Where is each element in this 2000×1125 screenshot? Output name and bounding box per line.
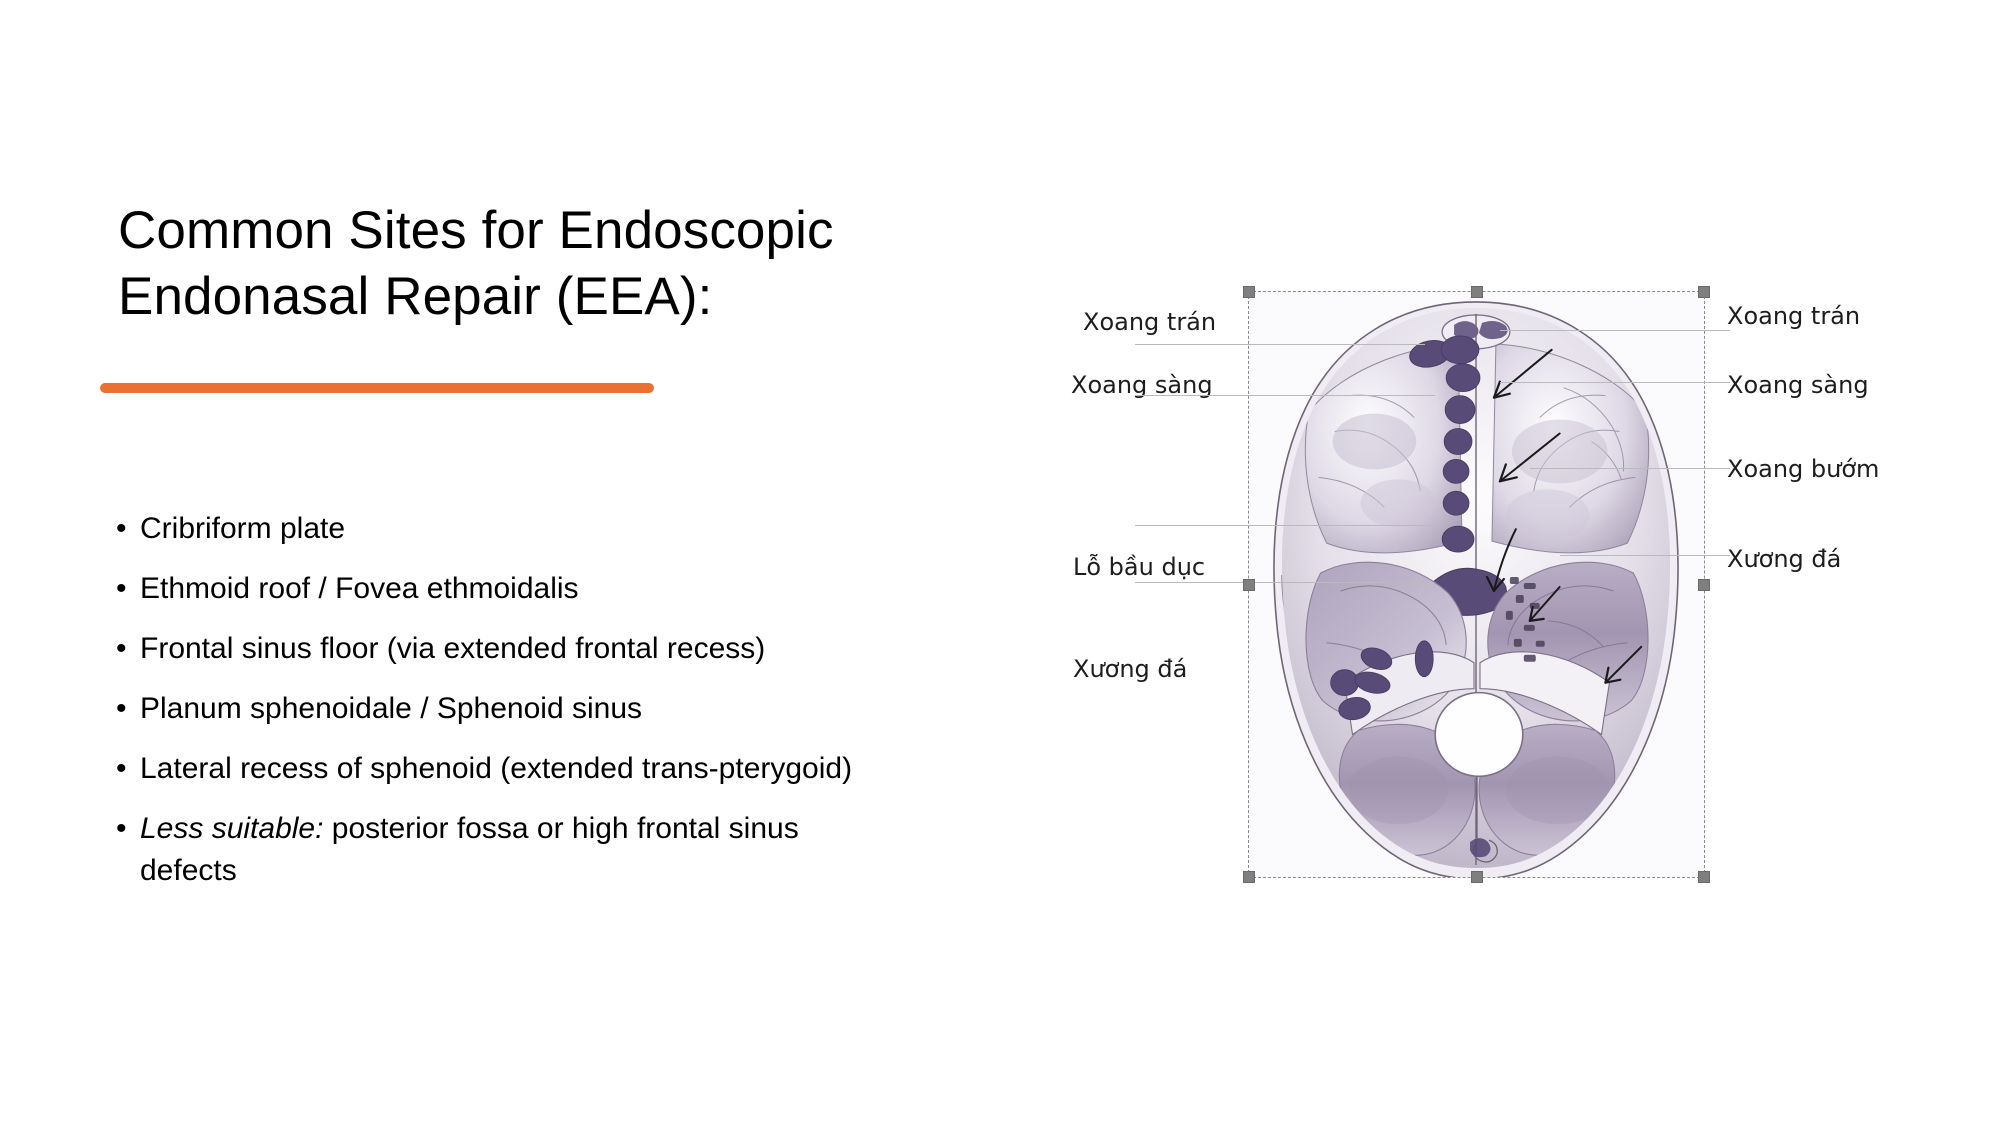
selection-handle-bottom-right[interactable]: [1698, 871, 1710, 883]
selection-handle-top-center[interactable]: [1471, 286, 1483, 298]
bullet-list[interactable]: • Cribriform plate • Ethmoid roof / Fove…: [112, 508, 872, 910]
page-title[interactable]: Common Sites for Endoscopic Endonasal Re…: [118, 198, 898, 330]
list-item-text: Ethmoid roof / Fovea ethmoidalis: [140, 568, 872, 610]
anat-label-right-xoang-sang: Xoang sàng: [1727, 371, 1869, 399]
skull-base-image-object[interactable]: [1248, 291, 1705, 878]
leader-line-left-2: [1135, 395, 1435, 396]
foramen-magnum: [1435, 693, 1523, 777]
list-item: • Frontal sinus floor (via extended fron…: [112, 628, 872, 670]
slide-canvas: Common Sites for Endoscopic Endonasal Re…: [0, 0, 2000, 1125]
list-item: • Planum sphenoidale / Sphenoid sinus: [112, 688, 872, 730]
bullet-marker-icon: •: [112, 628, 140, 670]
anat-label-right-xoang-buom: Xoang bướm: [1727, 455, 1879, 483]
skull-base-axial-illustration: [1249, 292, 1704, 877]
leader-line-right-3: [1530, 468, 1730, 469]
anat-label-left-xoang-tran: Xoang trán: [1083, 308, 1216, 336]
leader-line-left-3: [1135, 525, 1435, 526]
selection-handle-bottom-left[interactable]: [1243, 871, 1255, 883]
anat-label-right-xuong-da: Xương đá: [1727, 545, 1841, 573]
leader-line-right-1: [1500, 330, 1730, 331]
selection-handle-top-right[interactable]: [1698, 286, 1710, 298]
anat-label-right-xoang-tran: Xoang trán: [1727, 302, 1860, 330]
leader-line-right-2: [1500, 382, 1730, 383]
list-item: • Less suitable: posterior fossa or high…: [112, 808, 872, 892]
list-item: • Cribriform plate: [112, 508, 872, 550]
list-item-text: Less suitable: posterior fossa or high f…: [140, 808, 872, 892]
bullet-marker-icon: •: [112, 688, 140, 730]
bullet-marker-icon: •: [112, 508, 140, 550]
leader-line-left-4: [1135, 582, 1425, 583]
accent-underline-bar: [100, 383, 654, 393]
selection-handle-middle-left[interactable]: [1243, 579, 1255, 591]
list-item-emphasis: Less suitable:: [140, 812, 323, 845]
selection-handle-top-left[interactable]: [1243, 286, 1255, 298]
leader-line-right-4: [1560, 555, 1730, 556]
leader-line-left-1: [1135, 344, 1425, 345]
anat-label-left-lo-bau-duc: Lỗ bầu dục: [1073, 553, 1205, 581]
bullet-marker-icon: •: [112, 808, 140, 850]
list-item: • Ethmoid roof / Fovea ethmoidalis: [112, 568, 872, 610]
selection-handle-bottom-center[interactable]: [1471, 871, 1483, 883]
title-line-1: Common Sites for Endoscopic: [118, 198, 898, 264]
list-item: • Lateral recess of sphenoid (extended t…: [112, 748, 872, 790]
anat-label-left-xuong-da: Xương đá: [1073, 655, 1187, 683]
bullet-marker-icon: •: [112, 748, 140, 790]
list-item-text: Cribriform plate: [140, 508, 872, 550]
title-line-2: Endonasal Repair (EEA):: [118, 264, 898, 330]
list-item-text: Frontal sinus floor (via extended fronta…: [140, 628, 872, 670]
bullet-marker-icon: •: [112, 568, 140, 610]
list-item-text: Planum sphenoidale / Sphenoid sinus: [140, 688, 872, 730]
selection-handle-middle-right[interactable]: [1698, 579, 1710, 591]
list-item-text: Lateral recess of sphenoid (extended tra…: [140, 748, 872, 790]
